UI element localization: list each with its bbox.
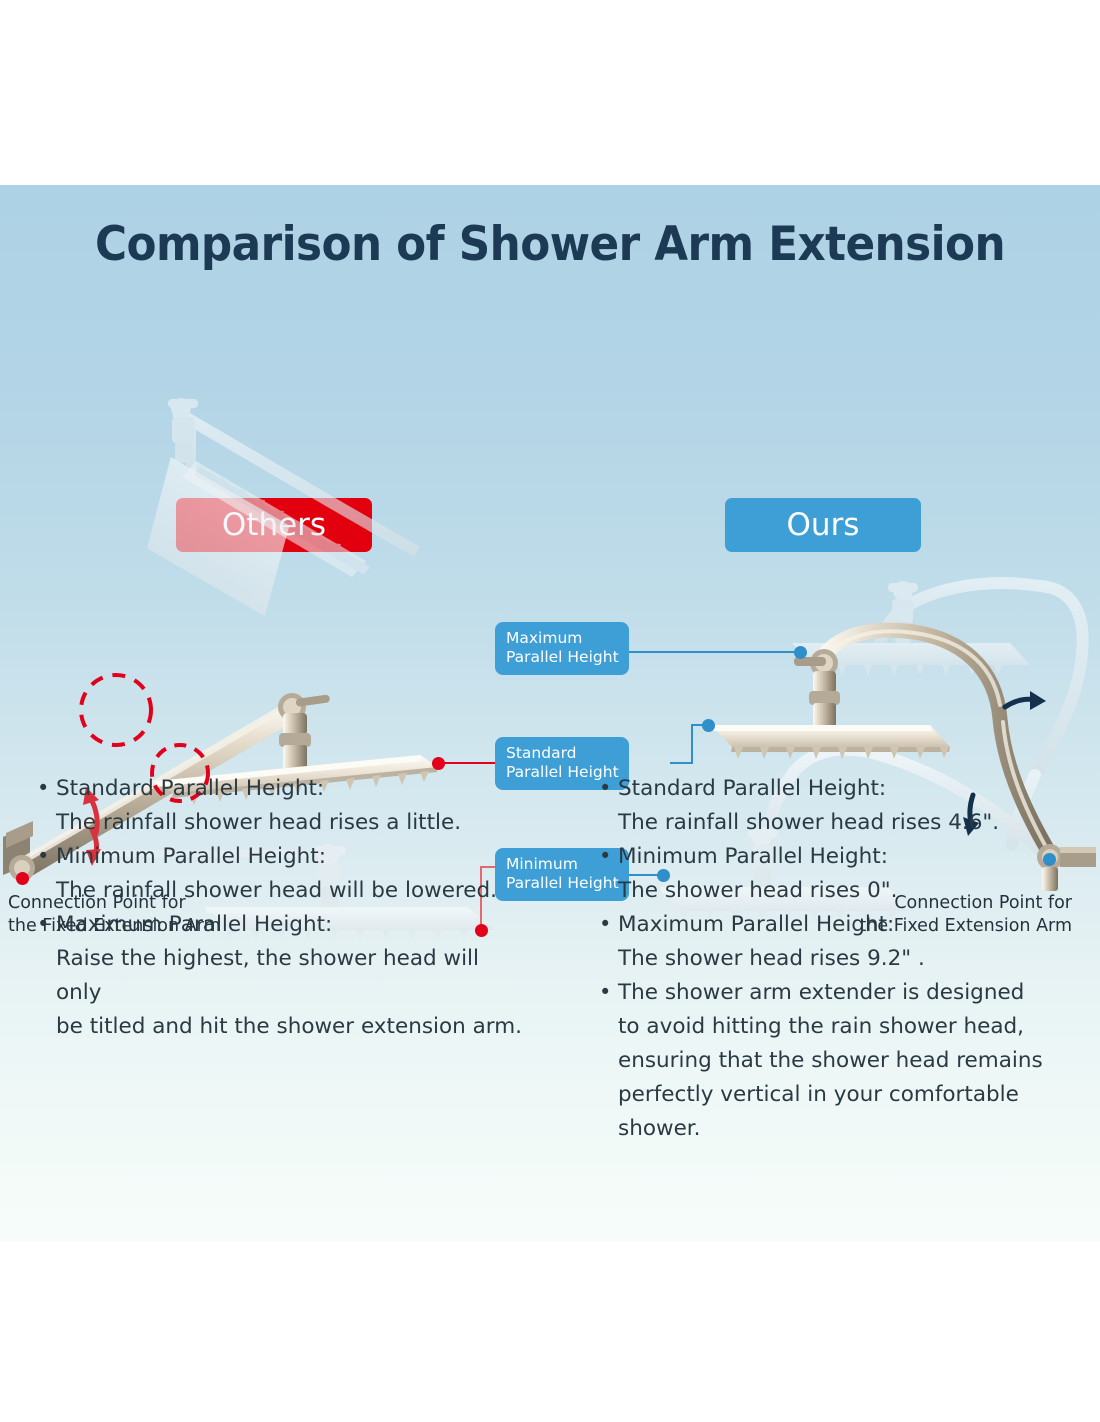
bullet-detail-line: to avoid hitting the rain shower head, [592, 1010, 1062, 1044]
bullet-item: Standard Parallel Height:The rainfall sh… [592, 772, 1062, 840]
bullet-detail-line: ensuring that the shower head remains [592, 1044, 1062, 1078]
connector-dot-max-blue [794, 646, 807, 659]
bullet-detail-line: The rainfall shower head will be lowered… [30, 874, 530, 908]
connector-dot-std-red [432, 757, 445, 770]
comparison-panel: Comparison of Shower Arm Extension Other… [0, 185, 1100, 1242]
badge-ours: Ours [725, 498, 921, 552]
bullet-detail-line: The shower head rises 9.2" . [592, 942, 1062, 976]
bullet-heading: Minimum Parallel Height: [30, 840, 530, 874]
bullet-detail-line: The rainfall shower head rises 4.6". [592, 806, 1062, 840]
badge-others: Others [176, 498, 372, 552]
page-title: Comparison of Shower Arm Extension [39, 217, 1062, 272]
bullet-item: Maximum Parallel Height:The shower head … [592, 908, 1062, 976]
connector-dot-std-blue [702, 719, 715, 732]
bullet-detail-line: Raise the highest, the shower head will … [30, 942, 530, 1010]
connector-std-blue [670, 725, 708, 763]
bullet-detail-line: be titled and hit the shower extension a… [30, 1010, 530, 1044]
connector-dot-min-red [475, 924, 488, 937]
bullet-detail-line: The rainfall shower head rises a little. [30, 806, 530, 840]
bullet-heading: Standard Parallel Height: [30, 772, 530, 806]
bullet-list-others: Standard Parallel Height:The rainfall sh… [30, 772, 530, 1044]
arrow-head-up-right [1030, 691, 1046, 710]
connector-dot-min-blue [657, 869, 670, 882]
bullet-detail-line: perfectly vertical in your comfortable [592, 1078, 1062, 1112]
callout-standard-line1: Standard [506, 744, 619, 763]
bullet-heading: The shower arm extender is designed [592, 976, 1062, 1010]
collision-marker-upper [81, 675, 151, 745]
connection-point-dot-right [1043, 853, 1056, 866]
bullet-item: The shower arm extender is designedto av… [592, 976, 1062, 1146]
connection-point-dot-left [16, 872, 29, 885]
rotation-arrow-up-right [1005, 699, 1036, 707]
infographic-page: Comparison of Shower Arm Extension Other… [0, 0, 1100, 1422]
callout-maximum-line2: Parallel Height [506, 648, 619, 667]
callout-maximum-line1: Maximum [506, 629, 619, 648]
bullet-detail-line: shower. [592, 1112, 1062, 1146]
bullet-item: Minimum Parallel Height:The rainfall sho… [30, 840, 530, 908]
bullet-item: Standard Parallel Height:The rainfall sh… [30, 772, 530, 840]
bullet-item: Maximum Parallel Height:Raise the highes… [30, 908, 530, 1044]
bullet-heading: Maximum Parallel Height: [592, 908, 1062, 942]
callout-maximum-parallel-height: Maximum Parallel Height [495, 622, 629, 675]
bullet-heading: Maximum Parallel Height: [30, 908, 530, 942]
bullet-heading: Standard Parallel Height: [592, 772, 1062, 806]
bullet-list-ours: Standard Parallel Height:The rainfall sh… [592, 772, 1062, 1146]
